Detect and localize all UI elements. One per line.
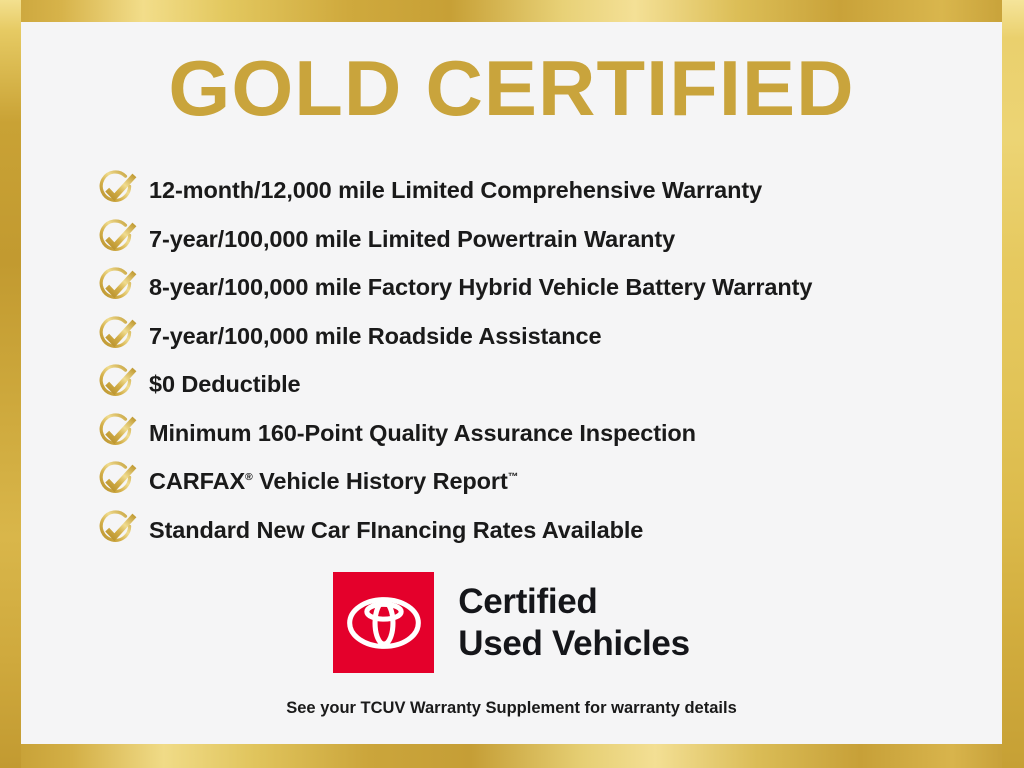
lockup-line-2: Used Vehicles [458, 623, 690, 665]
list-item: Minimum 160-Point Quality Assurance Insp… [95, 409, 982, 458]
list-item: 12-month/12,000 mile Limited Comprehensi… [95, 166, 982, 215]
gold-check-icon [95, 362, 139, 404]
benefit-label: 7-year/100,000 mile Limited Powertrain W… [149, 226, 675, 252]
lockup-wordmark: Certified Used Vehicles [458, 581, 690, 665]
benefit-label: 7-year/100,000 mile Roadside Assistance [149, 323, 601, 349]
lockup-line-1: Certified [458, 581, 690, 623]
benefit-label: 8-year/100,000 mile Factory Hybrid Vehic… [149, 274, 812, 300]
gold-check-icon [95, 265, 139, 307]
gold-check-icon [95, 508, 139, 550]
list-item: 7-year/100,000 mile Limited Powertrain W… [95, 215, 982, 264]
gold-check-icon [95, 411, 139, 453]
list-item: 7-year/100,000 mile Roadside Assistance [95, 312, 982, 361]
benefits-list: 12-month/12,000 mile Limited Comprehensi… [95, 166, 982, 554]
benefit-label: Standard New Car FInancing Rates Availab… [149, 517, 643, 543]
list-item: Standard New Car FInancing Rates Availab… [95, 506, 982, 555]
toyota-certified-used-vehicles-lockup: Certified Used Vehicles [21, 572, 1002, 673]
trademark-mark: ™ [508, 471, 518, 483]
warranty-footnote: See your TCUV Warranty Supplement for wa… [21, 699, 1002, 718]
carfax-descriptor: Vehicle History Report [253, 468, 508, 494]
benefit-label: 12-month/12,000 mile Limited Comprehensi… [149, 177, 762, 203]
toyota-logo-badge [333, 572, 434, 673]
gold-check-icon [95, 217, 139, 259]
list-item: 8-year/100,000 mile Factory Hybrid Vehic… [95, 263, 982, 312]
gold-check-icon [95, 314, 139, 356]
list-item: CARFAX® Vehicle History Report™ [95, 457, 982, 506]
benefit-label: $0 Deductible [149, 371, 301, 397]
carfax-wordmark: CARFAX [149, 468, 245, 494]
frame-edge-bottom [0, 744, 1024, 768]
benefit-label-carfax: CARFAX® Vehicle History Report™ [149, 468, 518, 494]
registered-mark: ® [245, 471, 253, 483]
frame-edge-top [0, 0, 1024, 22]
toyota-emblem-icon [345, 584, 423, 662]
gold-check-icon [95, 459, 139, 501]
list-item: $0 Deductible [95, 360, 982, 409]
gold-check-icon [95, 168, 139, 210]
benefit-label: Minimum 160-Point Quality Assurance Insp… [149, 420, 696, 446]
content-panel: GOLD CERTIFIED [21, 22, 1002, 744]
gold-certified-card: GOLD CERTIFIED [0, 0, 1024, 768]
page-title: GOLD CERTIFIED [11, 44, 1012, 132]
